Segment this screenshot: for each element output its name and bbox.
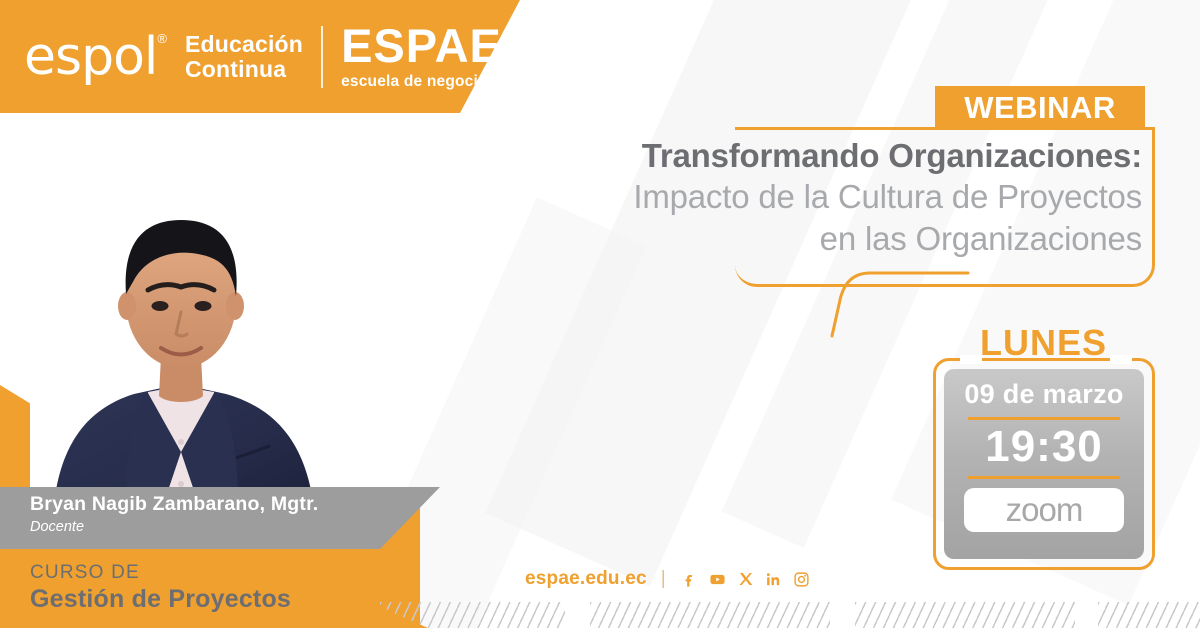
course-info: CURSO DE Gestión de Proyectos: [30, 562, 291, 614]
date-frame-gap-left: [960, 355, 982, 364]
title-line-2: Impacto de la Cultura de Proyectos: [522, 176, 1142, 218]
event-date: 09 de marzo: [964, 379, 1123, 410]
espol-registered-icon: ®: [157, 31, 167, 46]
poster-canvas: espol ® Educación Continua ESPAE® escuel…: [0, 0, 1200, 628]
title-line-3: en las Organizaciones: [522, 218, 1142, 260]
instagram-icon[interactable]: [793, 571, 810, 588]
social-links: [680, 571, 810, 588]
webinar-label: WEBINAR: [964, 90, 1116, 126]
youtube-icon[interactable]: [708, 571, 727, 588]
schedule-card: 09 de marzo 19:30 zoom: [944, 369, 1144, 559]
educacion-line-2: Continua: [185, 57, 303, 82]
espae-tagline: escuela de negocios: [341, 73, 511, 91]
title-line-1: Transformando Organizaciones:: [522, 136, 1142, 176]
espae-logo: ESPAE® escuela de negocios: [341, 22, 511, 91]
logo-row: espol ® Educación Continua ESPAE® escuel…: [0, 0, 512, 113]
educacion-line-1: Educación: [185, 32, 303, 57]
linkedin-icon[interactable]: [765, 571, 782, 588]
espae-wordmark-row: ESPAE®: [341, 22, 511, 69]
title-frame-curve: [830, 270, 970, 340]
x-twitter-icon[interactable]: [738, 571, 754, 587]
speaker-photo: [30, 112, 360, 532]
course-prefix: CURSO DE: [30, 562, 291, 584]
espae-wordmark: ESPAE: [341, 19, 502, 72]
zoom-platform-badge: zoom: [964, 488, 1124, 532]
hatch-stripes-3: [855, 602, 1075, 628]
event-time: 19:30: [985, 424, 1103, 470]
espae-registered-icon: ®: [502, 44, 512, 59]
speaker-name: Bryan Nagib Zambarano, Mgtr.: [30, 493, 318, 516]
hatch-stripes-4: [1098, 602, 1200, 628]
website-link[interactable]: espae.edu.ec: [525, 568, 647, 590]
date-separator-2: [968, 476, 1120, 479]
date-frame-gap-right: [1110, 355, 1132, 364]
speaker-info: Bryan Nagib Zambarano, Mgtr. Docente: [30, 493, 318, 535]
day-name-label: LUNES: [980, 322, 1107, 364]
hatch-stripes-2: [590, 602, 830, 628]
webinar-badge: WEBINAR: [935, 86, 1145, 129]
facebook-icon[interactable]: [680, 571, 697, 588]
course-name: Gestión de Proyectos: [30, 585, 291, 614]
date-separator-1: [968, 417, 1120, 420]
speaker-role: Docente: [30, 519, 318, 535]
zoom-label: zoom: [1006, 491, 1083, 529]
espol-logo: espol ®: [24, 31, 167, 83]
logo-divider: [321, 26, 323, 88]
educacion-continua-label: Educación Continua: [185, 32, 303, 82]
speaker-portrait-illustration: [30, 112, 360, 532]
footer: espae.edu.ec |: [525, 568, 810, 590]
footer-divider: |: [661, 568, 666, 590]
espol-wordmark: espol: [24, 31, 157, 83]
webinar-title: Transformando Organizaciones: Impacto de…: [522, 136, 1142, 260]
